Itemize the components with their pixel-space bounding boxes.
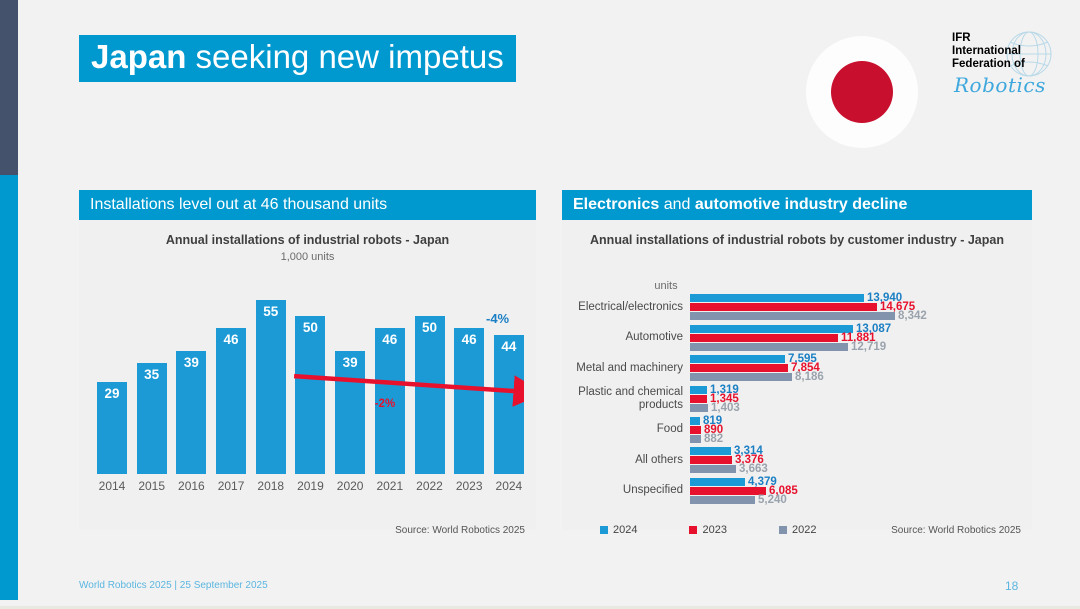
bar-segment-2024: 819	[690, 417, 700, 425]
page-title-rest: seeking new impetus	[186, 38, 503, 75]
left-panel-header: Installations level out at 46 thousand u…	[79, 190, 536, 220]
bar-value-label: 8,186	[795, 371, 824, 383]
bar-chart-row: Electrical/electronics13,94014,6758,342	[568, 292, 1024, 323]
legend-swatch-icon	[779, 526, 787, 534]
column-year-label: 2023	[454, 479, 484, 493]
column-bar: 46	[216, 328, 246, 474]
legend-item-2022: 2022	[779, 524, 816, 536]
column-year-label: 2024	[494, 479, 524, 493]
bar-segment-2022: 8,342	[690, 312, 895, 320]
right-panel-header-bold2: automotive industry decline	[695, 196, 907, 213]
page-title: Japan seeking new impetus	[79, 35, 516, 82]
edge-accent-blue	[0, 175, 18, 600]
column-bar-item: 46	[454, 284, 484, 474]
bar-segment-2023: 11,881	[690, 334, 838, 342]
column-bar-value: 44	[494, 339, 524, 354]
column-year-label: 2015	[137, 479, 167, 493]
legend-label: 2022	[792, 524, 816, 536]
slide: Japan seeking new impetus IFR Internatio…	[0, 0, 1080, 609]
column-bar: 29	[97, 382, 127, 474]
right-panel-header-reg: and	[659, 196, 695, 213]
bar-chart-row: Plastic and chemical products1,3191,3451…	[568, 384, 1024, 415]
bar-row-bars: 13,08711,88112,719	[690, 323, 1024, 354]
ifr-logo-line2: International	[952, 45, 1025, 58]
bar-row-label: Automotive	[568, 331, 690, 344]
column-bar: 46	[454, 328, 484, 474]
column-bar-value: 50	[295, 320, 325, 335]
right-chart-panel: Electronics and automotive industry decl…	[562, 190, 1032, 530]
column-bar: 39	[176, 351, 206, 475]
column-bar-value: 39	[335, 355, 365, 370]
right-panel-header-bold1: Electronics	[573, 196, 659, 213]
ifr-logo-script: Robotics	[954, 73, 1046, 97]
bar-chart-row: Automotive13,08711,88112,719	[568, 323, 1024, 354]
bar-segment-2022: 8,186	[690, 373, 792, 381]
left-chart-subtitle: 1,000 units	[79, 251, 536, 263]
column-year-label: 2017	[216, 479, 246, 493]
right-chart-legend: 202420232022	[600, 524, 816, 536]
column-bar-value: 29	[97, 386, 127, 401]
bar-row-bars: 13,94014,6758,342	[690, 292, 1024, 323]
japan-flag-disc	[831, 61, 893, 123]
left-column-chart: 2935394655503946504644 20142015201620172…	[97, 284, 524, 496]
bar-value-label: 12,719	[851, 341, 886, 353]
legend-item-2024: 2024	[600, 524, 637, 536]
bar-value-label: 3,663	[739, 463, 768, 475]
bar-segment-2024: 4,379	[690, 478, 745, 486]
legend-swatch-icon	[689, 526, 697, 534]
column-bar-value: 39	[176, 355, 206, 370]
column-bar-item: 50	[295, 284, 325, 474]
column-year-label: 2014	[97, 479, 127, 493]
legend-swatch-icon	[600, 526, 608, 534]
annotation-minus-2-percent: -2%	[375, 398, 395, 410]
page-title-bold: Japan	[91, 38, 186, 75]
bar-row-label: Food	[568, 423, 690, 436]
column-year-label: 2020	[335, 479, 365, 493]
bar-segment-2022: 882	[690, 435, 701, 443]
column-bar: 44	[494, 335, 524, 474]
bar-row-label: All others	[568, 454, 690, 467]
bar-row-label: Unspecified	[568, 484, 690, 497]
column-year-label: 2021	[375, 479, 405, 493]
column-bar-item: 46	[375, 284, 405, 474]
column-year-label: 2016	[176, 479, 206, 493]
ifr-logo: IFR International Federation of Robotics	[952, 30, 1062, 108]
bar-segment-2022: 5,240	[690, 496, 755, 504]
bar-segment-2024: 13,940	[690, 294, 864, 302]
column-bar-value: 35	[137, 367, 167, 382]
bar-value-label: 882	[704, 433, 723, 445]
bar-segment-2022: 3,663	[690, 465, 736, 473]
bar-chart-row: Food819890882	[568, 414, 1024, 445]
right-chart-source: Source: World Robotics 2025	[891, 525, 1021, 536]
ifr-logo-line3: Federation of	[952, 58, 1025, 71]
bar-row-bars: 4,3796,0855,240	[690, 475, 1024, 506]
bar-segment-2023: 14,675	[690, 303, 877, 311]
japan-flag-icon	[806, 36, 918, 148]
edge-accent-dark	[0, 0, 18, 175]
bar-segment-2024: 1,319	[690, 386, 707, 394]
bar-value-label: 8,342	[898, 310, 927, 322]
column-bar: 50	[295, 316, 325, 474]
column-year-label: 2018	[256, 479, 286, 493]
bar-row-bars: 7,5957,8548,186	[690, 353, 1024, 384]
legend-item-2023: 2023	[689, 524, 726, 536]
column-bar-item: 39	[335, 284, 365, 474]
column-bar: 50	[415, 316, 445, 474]
column-year-label: 2022	[415, 479, 445, 493]
bar-value-label: 5,240	[758, 494, 787, 506]
bar-segment-2022: 12,719	[690, 343, 848, 351]
bar-segment-2023: 7,854	[690, 364, 788, 372]
ifr-logo-text: IFR International Federation of	[952, 32, 1025, 71]
bar-chart-row: Unspecified4,3796,0855,240	[568, 475, 1024, 506]
right-chart-units-label: units	[636, 280, 696, 292]
page-number: 18	[1005, 579, 1018, 593]
left-chart-source: Source: World Robotics 2025	[395, 525, 525, 536]
bar-segment-2023: 890	[690, 426, 701, 434]
bar-row-label: Plastic and chemical products	[568, 386, 690, 412]
legend-label: 2023	[702, 524, 726, 536]
column-bars-container: 2935394655503946504644	[97, 284, 524, 474]
bar-row-bars: 3,3143,3763,663	[690, 445, 1024, 476]
bar-chart-row: All others3,3143,3763,663	[568, 445, 1024, 476]
column-year-label: 2019	[295, 479, 325, 493]
left-chart-title: Annual installations of industrial robot…	[79, 232, 536, 248]
column-bar-item: 55	[256, 284, 286, 474]
right-panel-body: Annual installations of industrial robot…	[562, 232, 1032, 542]
column-bar: 55	[256, 300, 286, 474]
right-chart-title: Annual installations of industrial robot…	[562, 232, 1032, 248]
bar-chart-row: Metal and machinery7,5957,8548,186	[568, 353, 1024, 384]
legend-label: 2024	[613, 524, 637, 536]
bar-row-label: Electrical/electronics	[568, 301, 690, 314]
column-bar-value: 46	[454, 332, 484, 347]
column-bar-item: 35	[137, 284, 167, 474]
bar-value-label: 1,403	[711, 402, 740, 414]
right-bar-chart: Electrical/electronics13,94014,6758,342A…	[568, 292, 1024, 506]
column-bar-item: 29	[97, 284, 127, 474]
bar-segment-2022: 1,403	[690, 404, 708, 412]
footer-text: World Robotics 2025 | 25 September 2025	[79, 580, 268, 591]
bar-segment-2024: 3,314	[690, 447, 731, 455]
column-bar: 35	[137, 363, 167, 474]
bar-segment-2023: 1,345	[690, 395, 707, 403]
left-chart-panel: Installations level out at 46 thousand u…	[79, 190, 536, 530]
bar-segment-2023: 6,085	[690, 487, 766, 495]
ifr-logo-line1: IFR	[952, 32, 1025, 45]
left-panel-body: Annual installations of industrial robot…	[79, 232, 536, 542]
bar-row-label: Metal and machinery	[568, 362, 690, 375]
column-bar-value: 50	[415, 320, 445, 335]
column-bar-item: 46	[216, 284, 246, 474]
column-bar-value: 46	[216, 332, 246, 347]
bar-segment-2024: 13,087	[690, 325, 853, 333]
column-bar-value: 55	[256, 304, 286, 319]
column-bar-item: 39	[176, 284, 206, 474]
bar-segment-2023: 3,376	[690, 456, 732, 464]
bar-row-bars: 819890882	[690, 414, 1024, 445]
column-bar: 39	[335, 351, 365, 475]
bar-segment-2024: 7,595	[690, 355, 785, 363]
column-bar-item: 50	[415, 284, 445, 474]
column-bar-value: 46	[375, 332, 405, 347]
annotation-minus-4-percent: -4%	[486, 311, 509, 326]
column-year-axis: 2014201520162017201820192020202120222023…	[97, 476, 524, 496]
bar-row-bars: 1,3191,3451,403	[690, 384, 1024, 415]
right-panel-header: Electronics and automotive industry decl…	[562, 190, 1032, 220]
